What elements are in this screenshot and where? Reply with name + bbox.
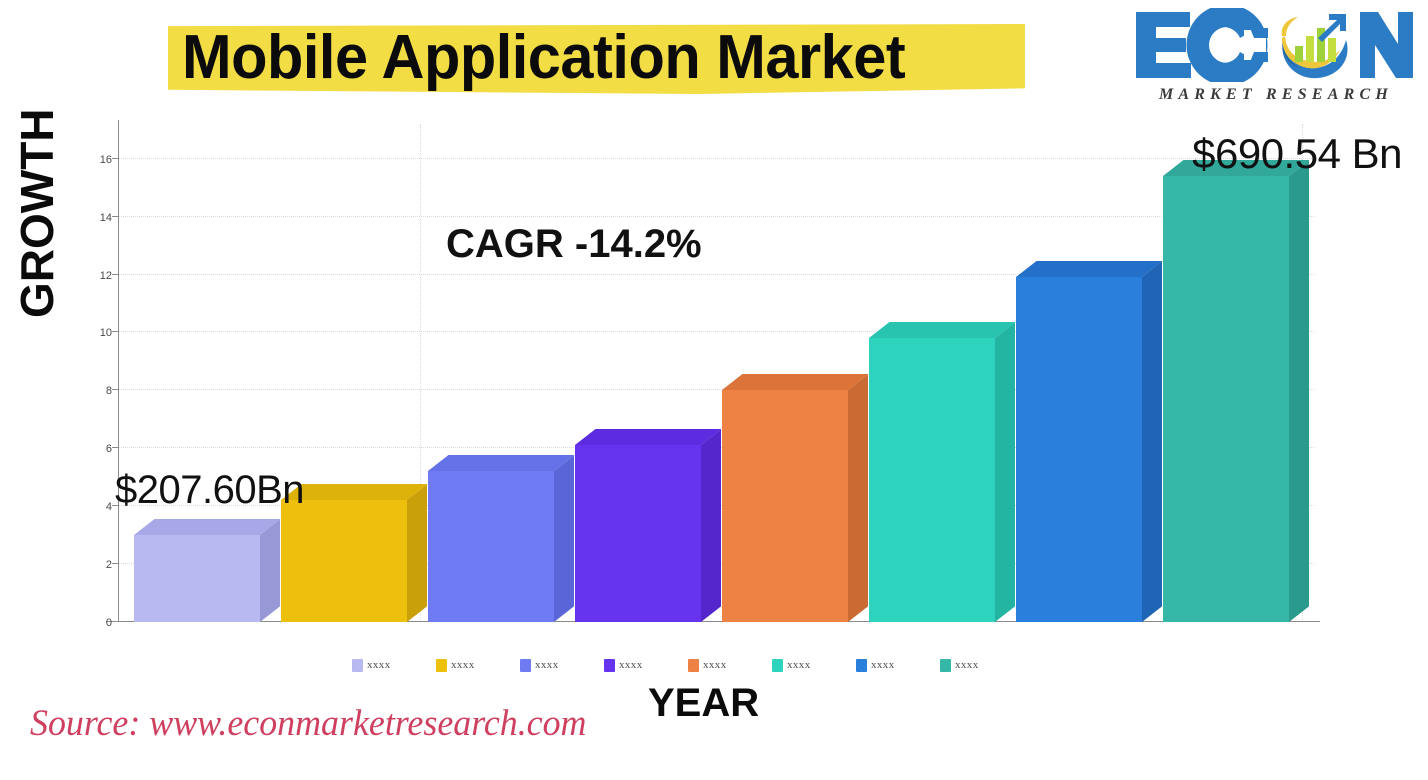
cagr-label: CAGR -14.2% xyxy=(446,222,702,267)
legend-swatch-icon xyxy=(856,659,867,672)
legend-label: xxxx xyxy=(703,659,727,671)
y-tick-label: 4 xyxy=(72,501,112,513)
bar-front-face xyxy=(869,338,995,622)
legend-item-5[interactable]: xxxx xyxy=(688,659,772,672)
bar-top-face xyxy=(722,374,868,390)
bar-side-face xyxy=(1289,160,1309,622)
legend-label: xxxx xyxy=(535,659,559,671)
bar-front-face xyxy=(428,471,554,622)
legend-swatch-icon xyxy=(772,659,783,672)
bar-5 xyxy=(722,390,848,622)
bar-top-face xyxy=(575,429,721,445)
bar-4 xyxy=(575,445,701,622)
bar-2 xyxy=(281,500,407,622)
y-tick-mark xyxy=(112,158,118,159)
y-tick-label: 2 xyxy=(72,559,112,571)
bar-front-face xyxy=(1016,277,1142,622)
legend-item-1[interactable]: xxxx xyxy=(352,659,436,672)
y-tick-mark xyxy=(112,563,118,564)
bar-side-face xyxy=(260,520,280,622)
legend-swatch-icon xyxy=(436,659,447,672)
logo-mark-svg xyxy=(1132,8,1414,82)
y-tick-mark xyxy=(112,447,118,448)
legend-label: xxxx xyxy=(955,659,979,671)
y-axis-title: GROWTH xyxy=(10,108,64,318)
source-text: Source: www.econmarketresearch.com xyxy=(30,702,586,745)
chart-title-block: Mobile Application Market xyxy=(168,20,1028,98)
bar-side-face xyxy=(848,375,868,622)
legend-swatch-icon xyxy=(352,659,363,672)
legend-item-6[interactable]: xxxx xyxy=(772,659,856,672)
bar-top-face xyxy=(1016,261,1162,277)
legend-item-8[interactable]: xxxx xyxy=(940,659,1024,672)
y-tick-mark xyxy=(112,331,118,332)
bar-front-face xyxy=(722,390,848,622)
gridline-h xyxy=(118,216,1314,217)
y-tick-label: 8 xyxy=(72,385,112,397)
bar-front-face xyxy=(1163,176,1289,622)
legend-swatch-icon xyxy=(940,659,951,672)
legend-label: xxxx xyxy=(619,659,643,671)
bar-8 xyxy=(1163,176,1289,622)
y-tick-label: 14 xyxy=(72,212,112,224)
page-title: Mobile Application Market xyxy=(182,26,988,90)
y-axis-title-right: IN USD xyxy=(1424,322,1428,437)
chart-legend: xxxxxxxxxxxxxxxxxxxxxxxxxxxxxxxx xyxy=(352,655,1052,675)
y-tick-label: 16 xyxy=(72,154,112,166)
bar-top-face xyxy=(869,322,1015,338)
bar-side-face xyxy=(407,485,427,622)
legend-item-3[interactable]: xxxx xyxy=(520,659,604,672)
y-tick-mark xyxy=(112,621,118,622)
y-tick-label: 10 xyxy=(72,327,112,339)
logo-tagline: MARKET RESEARCH xyxy=(1138,86,1414,104)
legend-label: xxxx xyxy=(871,659,895,671)
legend-item-7[interactable]: xxxx xyxy=(856,659,940,672)
legend-swatch-icon xyxy=(604,659,615,672)
econ-logo: MARKET RESEARCH xyxy=(1132,8,1414,112)
bar-side-face xyxy=(701,430,721,622)
legend-swatch-icon xyxy=(520,659,531,672)
y-axis-line xyxy=(118,120,119,622)
bar-side-face xyxy=(995,323,1015,622)
bar-side-face xyxy=(1142,262,1162,622)
bar-6 xyxy=(869,338,995,622)
bar-front-face xyxy=(575,445,701,622)
bar-7 xyxy=(1016,277,1142,622)
bar-front-face xyxy=(134,535,260,622)
chart-plot-area: 0246810121416 xyxy=(118,124,1314,622)
x-axis-title: YEAR xyxy=(648,681,759,726)
legend-label: xxxx xyxy=(451,659,475,671)
legend-label: xxxx xyxy=(367,659,391,671)
bar-top-face xyxy=(134,519,280,535)
gridline-h xyxy=(118,158,1314,159)
y-tick-label: 6 xyxy=(72,443,112,455)
bar-front-face xyxy=(281,500,407,622)
y-tick-mark xyxy=(112,274,118,275)
bar-3 xyxy=(428,471,554,622)
legend-item-4[interactable]: xxxx xyxy=(604,659,688,672)
y-tick-label: 12 xyxy=(72,270,112,282)
y-tick-label: 0 xyxy=(72,617,112,629)
bar-side-face xyxy=(554,456,574,622)
y-tick-mark xyxy=(112,216,118,217)
bar-1 xyxy=(134,535,260,622)
legend-item-2[interactable]: xxxx xyxy=(436,659,520,672)
chart-page: Mobile Application Market xyxy=(0,0,1428,780)
legend-swatch-icon xyxy=(688,659,699,672)
bar-top-face xyxy=(428,455,574,471)
last-value-label: $690.54 Bn xyxy=(1192,130,1402,178)
first-value-label: $207.60Bn xyxy=(115,468,304,513)
y-tick-mark xyxy=(112,389,118,390)
legend-label: xxxx xyxy=(787,659,811,671)
